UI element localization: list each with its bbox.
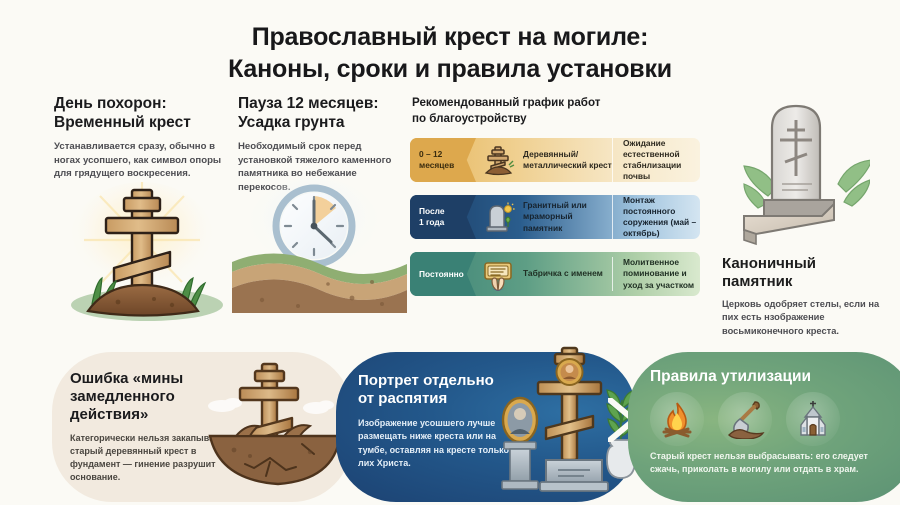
schedule-bars: 0 – 12 месяцев Деревянный/ металлический… [410,138,700,309]
monument-heading-line-2: памятник [722,273,792,290]
schedule-row-0-note: Ожидание естественной стабнлизации почвы [612,138,700,182]
bonfire-icon [650,392,704,446]
monument-body: Церковь одобряет стелы, если на пих есть… [722,298,887,338]
funeral-body: Устанавливается сразу, обычно в ногах ус… [54,140,230,181]
portrait-heading-line-2: от распятия [358,390,447,407]
portrait-heading: Портрет отдельно от распятия [358,372,516,408]
rules-heading: Правила утилизации [650,368,880,387]
schedule-row-0-period-line-2: месяцев [419,160,476,171]
schedule-row-0-12-months: 0 – 12 месяцев Деревянный/ металлический… [410,138,700,182]
church-icon [786,392,840,446]
schedule-row-1-item: Гранитный или мраморный памятник [520,200,612,234]
title-line-2: Каноны, сроки и правила установки [0,54,900,86]
mistake-heading-line-2: замедленного [70,388,175,405]
mistake-heading-line-3: действия» [70,406,148,423]
granite-stele-with-cross-icon [742,84,870,264]
shovel-digging-icon [718,392,772,446]
infographic-canvas: Православный крест на могиле: Каноны, ср… [0,0,900,502]
monument-heading-line-1: Каноничный [722,255,816,272]
mistake-heading-line-1: Ошибка «мины [70,370,183,387]
schedule-row-0-item: Деревянный/ металлический крест [520,149,612,172]
schedule-heading-line-1: Рекомендованный график работ [412,96,600,109]
page-title: Православный крест на могиле: Каноны, ср… [0,22,900,85]
schedule-row-2-period-chip: Постоянно [410,252,476,296]
pause-heading-line-1: Пауза 12 месяцев: [238,95,379,112]
wooden-orthodox-cross-on-mound-icon [62,178,232,323]
headstone-icon [476,195,520,239]
panel-disposal-rules: Правила утилизации [628,352,900,502]
schedule-heading-line-2: по благоустройству [412,112,527,125]
schedule-heading: Рекомендованный график работ по благоуст… [412,95,642,126]
portrait-text-block: Портрет отдельно от распятия Изображение… [358,372,516,470]
pause-heading: Пауза 12 месяцев: Усадка грунта [238,95,403,133]
rules-icon-row [650,392,880,448]
funeral-heading-line-1: День похорон: [54,95,167,112]
schedule-row-0-period-line-1: 0 – 12 [419,149,476,160]
cross-buried-in-cracked-soil-icon [200,358,350,493]
funeral-heading-line-2: Временный крест [54,114,191,131]
portrait-heading-line-1: Портрет отдельно [358,372,494,389]
wooden-cross-icon [476,138,520,182]
schedule-row-1-period-line-2: 1 года [419,217,476,228]
nameplate-praying-hands-icon [476,252,520,296]
rules-title-block: Правила утилизации [650,368,880,387]
schedule-row-0-period-chip: 0 – 12 месяцев [410,138,476,182]
section-canonical-monument: Каноничный памятник Церковь одобряет сте… [722,255,887,338]
portrait-body: Изображение усошшего лучше размещать ниж… [358,417,516,470]
funeral-heading: День похорон: Временный крест [54,95,230,133]
section-funeral-day: День похорон: Временный крест Устанавлив… [54,95,230,181]
schedule-row-after-1-year: После 1 года Гранитный или мраморный пам… [410,195,700,239]
schedule-row-1-period-line-1: После [419,206,476,217]
schedule-row-1-period-chip: После 1 года [410,195,476,239]
monument-heading: Каноничный памятник [722,255,887,291]
rules-body: Старый крест нельзя выбрасывать: его сле… [650,450,890,477]
rules-body-block: Старый крест нельзя выбрасывать: его сле… [650,450,890,477]
schedule-row-2-item: Табричка с именем [520,268,612,279]
schedule-row-2-period-line-1: Постоянно [419,269,476,280]
title-line-1: Православный крест на могиле: [252,23,649,51]
schedule-row-2-note: Молитвенное поминование и уход за участк… [612,257,700,291]
pause-heading-line-2: Усадка грунта [238,114,345,131]
schedule-row-1-note: Монтаж постоянного соружения (май – октя… [612,195,700,239]
schedule-row-permanent: Постоянно Табричка с именем Молитвенное … [410,252,700,296]
clock-over-soil-layers-icon [232,178,407,313]
section-schedule-heading: Рекомендованный график работ по благоуст… [412,95,642,133]
